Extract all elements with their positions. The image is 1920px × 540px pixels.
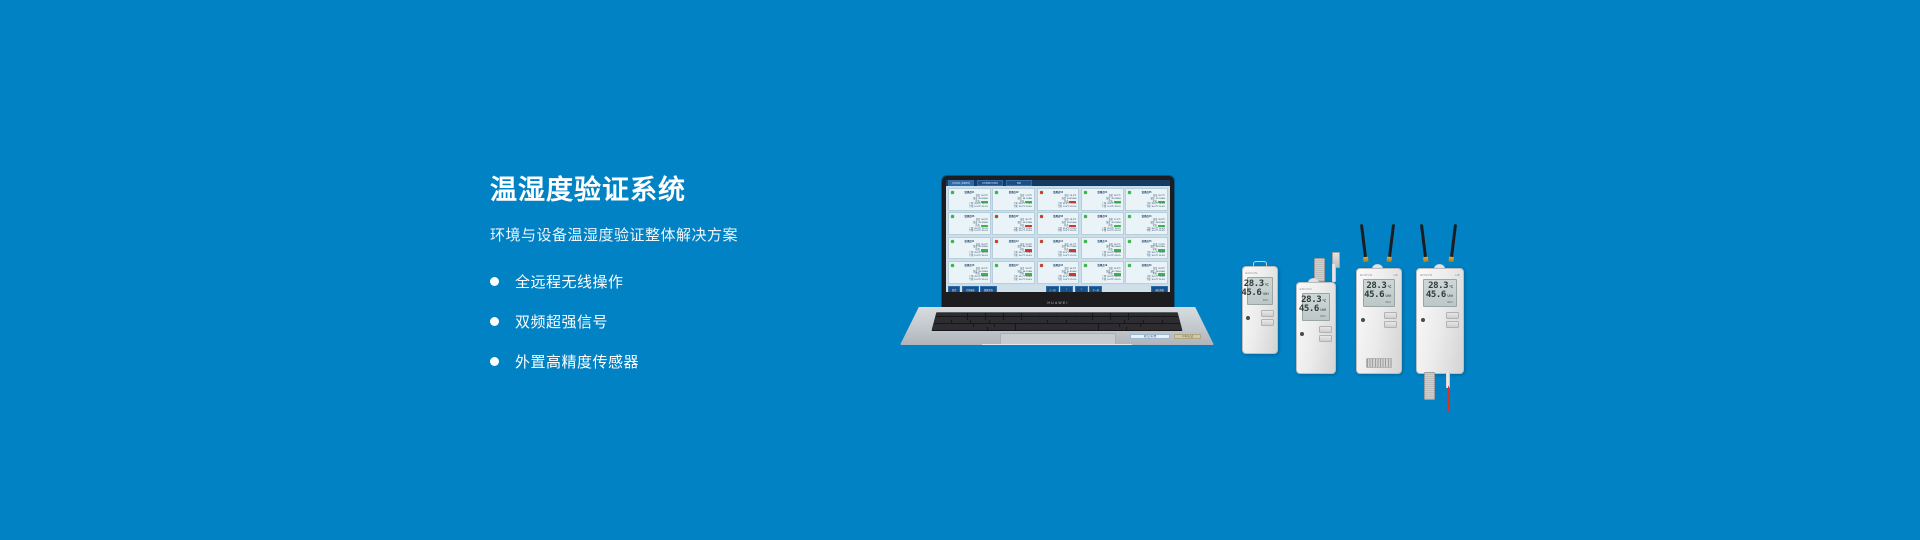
panel-lower-limit-label: 下限 [1102,230,1106,233]
device-probe-logger: ENOVN 28.3 ℃ 45.6 %RH REC [1296,238,1336,374]
panel-lower-limit-value: 10.0℃ 20.0% [1063,279,1077,282]
device-model-label: H8 [1455,273,1459,277]
keyboard-key[interactable] [1141,324,1161,327]
panel-title: 监测点20 [1128,263,1165,267]
panel-status-led-icon [951,215,954,218]
panel-row: 下限10.0℃ 20.0% [1084,279,1121,282]
panel-title: 监测点19 [1084,263,1121,267]
keyboard-key[interactable] [1057,324,1077,327]
panel-lower-limit-value: 10.0℃ 20.0% [974,206,988,209]
laptop-lid: 实时监控 | 数据查询 历史数据记录查询 帮助 监测点01温度28.3℃湿度45… [942,176,1174,310]
page-1-button[interactable]: 1 [1060,286,1073,293]
antenna-icon [1420,224,1428,258]
panel-title: 监测点12 [995,239,1032,243]
laptop-illustration: 实时监控 | 数据查询 历史数据记录查询 帮助 监测点01温度28.3℃湿度45… [892,176,1222,311]
monitor-panel[interactable]: 监测点07温度30.2℃湿度43.9%RH状态上限35.0℃ 70.0%下限10… [992,212,1035,235]
keyboard-key[interactable] [932,317,949,320]
keyboard-key[interactable] [1071,327,1098,330]
keyboard-key[interactable] [990,320,1009,323]
panel-title: 监测点14 [1084,239,1121,243]
ir-sensor-icon [1300,332,1304,336]
device-lcd-display: 28.3 ℃ 45.6 %RH REC [1302,293,1330,321]
monitor-panel[interactable]: 监测点20温度28.3℃湿度45.6%RH状态上限35.0℃ 70.0%下限10… [1125,261,1168,284]
panel-status-led-icon [1040,191,1043,194]
panel-lower-limit-label: 下限 [1013,230,1017,233]
device-brand-label: ENOVN [1360,273,1372,277]
panel-lower-limit-label: 下限 [1146,230,1150,233]
panel-row: 下限10.0℃ 20.0% [995,206,1032,209]
panel-row: 下限10.0℃ 20.0% [951,206,988,209]
panel-title: 监测点01 [951,190,988,194]
lcd-temperature-unit: ℃ [1322,300,1326,303]
monitor-panel[interactable]: 监测点14温度28.2℃湿度46.4%RH状态上限35.0℃ 70.0%下限10… [1081,237,1124,260]
keyboard-row [932,313,1181,316]
panel-lower-limit-label: 下限 [1146,255,1150,258]
panel-status-led-icon [995,264,998,267]
keyboard-key[interactable] [1022,317,1039,320]
panel-title: 监测点13 [1040,239,1077,243]
panel-title: 监测点07 [995,214,1032,218]
device-button-up[interactable] [1446,312,1459,319]
validation-sticker: 验证系统 [1130,334,1170,339]
panel-lower-limit-value: 10.0℃ 20.0% [1019,255,1033,258]
keyboard-key[interactable] [1039,317,1056,320]
keyboard-key[interactable] [952,320,971,323]
page-2-button[interactable]: 2 [1075,286,1088,293]
device-button-down[interactable] [1446,321,1459,328]
keyboard-key[interactable] [1146,313,1163,316]
panel-lower-limit-value: 10.0℃ 20.0% [1063,206,1077,209]
sensor-vent-icon [1366,358,1392,368]
lcd-temperature-unit: ℃ [1449,286,1453,289]
keyboard-key[interactable] [950,313,967,316]
panel-status-led-icon [1128,191,1131,194]
monitor-panel[interactable]: 监测点06温度28.0℃湿度45.3%RH状态上限35.0℃ 70.0%下限10… [948,212,991,235]
device-controls [1361,312,1398,328]
device-group: ENOVN 28.3 ℃ 45.6 %RH REC [1238,222,1538,402]
lcd-recording-indicator: REC [1263,299,1269,302]
panel-lower-limit-label: 下限 [1013,206,1017,209]
exit-system-button[interactable]: 退出系统 [1151,286,1168,293]
app-bottom-toolbar: 监控 打印报表 数据查询 上一页 1 2 下一页 退出系统 [946,286,1170,293]
panel-status-label: 状态 [975,201,979,204]
device-brand-label: ENOVN [1300,287,1312,291]
list-item: 双频超强信号 [490,311,870,332]
panel-lower-limit-label: 下限 [1102,206,1106,209]
device-wireless-logger: ENOVN H8 28.3 ℃ 45.6 %RH REC [1356,224,1402,374]
keyboard-key[interactable] [974,324,994,327]
keyboard-key[interactable] [1004,313,1021,316]
panel-lower-limit-value: 10.0℃ 20.0% [1151,206,1165,209]
keyboard-key[interactable] [1067,320,1086,323]
keyboard-key[interactable] [932,324,952,327]
device-body: ENOVN H8 28.3 ℃ 45.6 %RH REC [1356,268,1402,374]
panel-row: 下限10.0℃ 20.0% [1128,230,1165,233]
lcd-temperature-unit: ℃ [1265,284,1269,287]
device-brand-label: ENOVN [1420,273,1432,277]
panel-status-label: 状态 [1020,273,1024,276]
monitor-panel[interactable]: 监测点01温度28.3℃湿度45.6%RH状态上限35.0℃ 70.0%下限10… [948,188,991,211]
panel-lower-limit-value: 10.0℃ 20.0% [1107,255,1121,258]
keyboard-key[interactable] [1093,317,1110,320]
keyboard-key[interactable] [1057,313,1074,316]
monitor-panel[interactable]: 监测点18温度30.5℃湿度41.8%RH状态上限35.0℃ 70.0%下限10… [1037,261,1080,284]
panel-lower-limit-value: 10.0℃ 20.0% [1019,206,1033,209]
lcd-humidity-unit: %RH [1447,295,1453,298]
panel-row: 下限10.0℃ 20.0% [1040,206,1077,209]
device-controls [1300,326,1332,342]
device-controls [1421,312,1460,328]
panel-row: 下限10.0℃ 20.0% [995,230,1032,233]
panel-lower-limit-label: 下限 [1102,279,1106,282]
feature-label: 双频超强信号 [515,311,608,332]
panel-title: 监测点06 [951,214,988,218]
marketing-copy: 温湿度验证系统 环境与设备温湿度验证整体解决方案 全远程无线操作 双频超强信号 … [490,176,870,391]
monitor-panel[interactable]: 监测点08温度28.6℃湿度46.0%RH状态上限35.0℃ 70.0%下限10… [1037,212,1080,235]
bullet-dot-icon [490,317,499,326]
device-keypad[interactable] [1446,312,1459,328]
keyboard-key[interactable] [1086,320,1105,323]
device-button-down[interactable] [1261,319,1274,326]
panel-status-label: 状态 [1064,249,1068,252]
keyboard-key[interactable] [986,313,1003,316]
monitor-panel[interactable]: 监测点02温度27.9℃湿度46.1%RH状态上限35.0℃ 70.0%下限10… [992,188,1035,211]
panel-status-label: 状态 [975,225,979,228]
keyboard-key[interactable] [960,327,987,330]
panel-status-led-icon [995,240,998,243]
device-button-up[interactable] [1319,326,1332,333]
monitor-panel[interactable]: 监测点12温度29.8℃湿度43.1%RH状态上限35.0℃ 70.0%下限10… [992,237,1035,260]
panel-lower-limit-value: 10.0℃ 20.0% [1063,230,1077,233]
keyboard-key[interactable] [1009,320,1028,323]
panel-lower-limit-value: 10.0℃ 20.0% [1107,206,1121,209]
keyboard-key[interactable] [1164,317,1181,320]
panel-status-label: 状态 [975,273,979,276]
device-button-up[interactable] [1261,310,1274,317]
keyboard-key[interactable] [1039,313,1056,316]
laptop-trackpad[interactable] [1000,333,1115,345]
keyboard-row [932,324,1181,327]
panel-row: 下限10.0℃ 20.0% [1084,230,1121,233]
keyboard-row [932,320,1181,323]
panel-status-label: 状态 [1108,273,1112,276]
probe-cable-icon [1448,386,1449,412]
laptop-screen: 实时监控 | 数据查询 历史数据记录查询 帮助 监测点01温度28.3℃湿度45… [946,180,1170,292]
monitor-panel-grid: 监测点01温度28.3℃湿度45.6%RH状态上限35.0℃ 70.0%下限10… [946,186,1170,286]
keyboard-key[interactable] [1163,320,1182,323]
device-brand-row: ENOVN [1300,287,1333,291]
panel-status-label: 状态 [1153,249,1157,252]
device-brand-row: ENOVN H8 [1360,273,1398,277]
panel-lower-limit-value: 10.0℃ 20.0% [1019,230,1033,233]
device-button-down[interactable] [1384,321,1397,328]
keyboard-key[interactable] [1093,313,1110,316]
panel-lower-limit-value: 10.0℃ 20.0% [1107,230,1121,233]
keyboard-key[interactable] [1075,313,1092,316]
panel-lower-limit-label: 下限 [969,279,973,282]
probe-sensor-icon [1424,372,1435,400]
panel-lower-limit-label: 下限 [969,230,973,233]
lcd-humidity-row: 45.6 %RH [1299,305,1326,314]
device-model-label: H8 [1393,273,1397,277]
device-lcd-display: 28.3 ℃ 45.6 %RH REC [1423,279,1457,307]
lcd-humidity-unit: %RH [1385,295,1391,298]
keyboard-key[interactable] [1022,313,1039,316]
laptop-front-hinge [982,344,1133,347]
panel-status-label: 状态 [1108,201,1112,204]
panel-status-label: 状态 [1020,201,1024,204]
panel-lower-limit-label: 下限 [1057,206,1061,209]
device-controls [1246,310,1275,326]
keyboard-key[interactable] [986,317,1003,320]
panel-row: 下限10.0℃ 20.0% [1084,206,1121,209]
certification-sticker: CE认证 [1174,334,1201,339]
device-keypad[interactable] [1384,312,1397,328]
panel-status-led-icon [1128,264,1131,267]
keyboard-key[interactable] [1146,317,1163,320]
monitor-button[interactable]: 监控 [948,286,960,293]
print-report-button[interactable]: 打印报表 [962,286,979,293]
list-item: 外置高精度传感器 [490,351,870,372]
lcd-humidity-value: 45.6 [1426,291,1446,300]
keyboard-key[interactable] [1125,320,1144,323]
device-body: ENOVN 28.3 ℃ 45.6 %RH REC [1242,266,1278,354]
device-brand-label: ENOVN [1245,271,1257,275]
panel-lower-limit-label: 下限 [1146,206,1150,209]
page-title: 温湿度验证系统 [490,176,870,206]
keyboard-key[interactable] [1111,313,1128,316]
bullet-dot-icon [490,357,499,366]
keyboard-key[interactable] [988,327,1015,330]
hero-banner: 温湿度验证系统 环境与设备温湿度验证整体解决方案 全远程无线操作 双频超强信号 … [0,0,1920,540]
panel-status-led-icon [1040,240,1043,243]
panel-lower-limit-value: 10.0℃ 20.0% [1151,255,1165,258]
lcd-humidity-row: 45.6 %RH [1241,289,1268,298]
panel-row: 下限10.0℃ 20.0% [995,255,1032,258]
prev-page-button[interactable]: 上一页 [1046,286,1059,293]
panel-row: 下限10.0℃ 20.0% [1040,255,1077,258]
panel-lower-limit-value: 10.0℃ 20.0% [974,230,988,233]
keyboard-key[interactable] [1161,324,1181,327]
keyboard-key[interactable] [968,317,985,320]
panel-status-led-icon [951,264,954,267]
lcd-humidity-value: 45.6 [1364,291,1384,300]
monitor-panel[interactable]: 监测点04温度28.1℃湿度45.0%RH状态上限35.0℃ 70.0%下限10… [1081,188,1124,211]
panel-status-label: 状态 [1108,249,1112,252]
device-keypad[interactable] [1261,310,1274,326]
monitor-panel[interactable]: 监测点19温度28.8℃湿度46.7%RH状态上限35.0℃ 70.0%下限10… [1081,261,1124,284]
panel-status-led-icon [1040,215,1043,218]
keyboard-key[interactable] [1016,327,1043,330]
device-data-logger: ENOVN 28.3 ℃ 45.6 %RH REC [1242,266,1278,354]
next-page-button[interactable]: 下一页 [1089,286,1102,293]
panel-lower-limit-value: 10.0℃ 20.0% [1107,279,1121,282]
device-body: ENOVN 28.3 ℃ 45.6 %RH REC [1296,282,1336,374]
monitor-panel[interactable]: 监测点15温度27.8℃湿度45.9%RH状态上限35.0℃ 70.0%下限10… [1125,237,1168,260]
panel-lower-limit-label: 下限 [1057,279,1061,282]
panel-lower-limit-label: 下限 [1057,230,1061,233]
keyboard-key[interactable] [1120,324,1140,327]
ir-sensor-icon [1246,316,1250,320]
data-query-button[interactable]: 数据查询 [980,286,997,293]
panel-lower-limit-label: 下限 [1146,279,1150,282]
panel-status-led-icon [1084,191,1087,194]
list-item: 全远程无线操作 [490,271,870,292]
panel-lower-limit-value: 10.0℃ 20.0% [974,279,988,282]
keyboard-key[interactable] [968,313,985,316]
ir-sensor-icon [1421,318,1425,322]
panel-lower-limit-label: 下限 [969,255,973,258]
laptop-keyboard[interactable] [931,312,1182,331]
panel-status-label: 状态 [1064,201,1068,204]
keyboard-key[interactable] [1048,320,1067,323]
keyboard-key[interactable] [1129,313,1146,316]
panel-status-label: 状态 [1064,225,1068,228]
panel-status-led-icon [1084,215,1087,218]
panel-lower-limit-value: 10.0℃ 20.0% [1019,279,1033,282]
panel-row: 下限10.0℃ 20.0% [1128,206,1165,209]
device-brand-row: ENOVN H8 [1420,273,1460,277]
panel-title: 监测点16 [951,263,988,267]
lcd-temperature-unit: ℃ [1387,286,1391,289]
keyboard-key[interactable] [950,317,967,320]
monitor-panel[interactable]: 监测点11温度28.4℃湿度45.5%RH状态上限35.0℃ 70.0%下限10… [948,237,991,260]
device-lcd-display: 28.3 ℃ 45.6 %RH REC [1363,279,1396,307]
lcd-humidity-row: 45.6 %RH [1364,291,1391,300]
monitor-panel[interactable]: 监测点09温度27.5℃湿度44.2%RH状态上限35.0℃ 70.0%下限10… [1081,212,1124,235]
panel-title: 监测点10 [1128,214,1165,218]
lcd-humidity-unit: %RH [1320,309,1326,312]
keyboard-key[interactable] [932,313,949,316]
panel-lower-limit-value: 10.0℃ 20.0% [1151,279,1165,282]
keyboard-key[interactable] [1036,324,1056,327]
keyboard-row [932,317,1181,320]
lcd-humidity-row: 45.6 %RH [1426,291,1453,300]
panel-title: 监测点05 [1128,190,1165,194]
keyboard-key[interactable] [1164,313,1181,316]
page-subtitle: 环境与设备温湿度验证整体解决方案 [490,224,870,245]
panel-lower-limit-label: 下限 [1013,279,1017,282]
keyboard-key[interactable] [1078,324,1098,327]
panel-row: 下限10.0℃ 20.0% [1040,279,1077,282]
panel-lower-limit-label: 下限 [1057,255,1061,258]
monitor-panel[interactable]: 监测点10温度28.9℃湿度45.8%RH状态上限35.0℃ 70.0%下限10… [1125,212,1168,235]
keyboard-key[interactable] [1099,327,1126,330]
keyboard-key[interactable] [932,327,959,330]
panel-title: 监测点03 [1040,190,1077,194]
keyboard-key[interactable] [953,324,973,327]
keyboard-key[interactable] [1075,317,1092,320]
monitor-panel[interactable]: 监测点05温度28.7℃湿度47.2%RH状态上限35.0℃ 70.0%下限10… [1125,188,1168,211]
panel-title: 监测点04 [1084,190,1121,194]
ir-sensor-icon [1361,318,1365,322]
panel-status-label: 状态 [1020,249,1024,252]
feature-label: 外置高精度传感器 [515,351,639,372]
panel-status-label: 状态 [1064,273,1068,276]
panel-status-label: 状态 [1153,225,1157,228]
monitor-panel[interactable]: 监测点16温度28.5℃湿度45.2%RH状态上限35.0℃ 70.0%下限10… [948,261,991,284]
device-button-down[interactable] [1319,335,1332,342]
keyboard-key[interactable] [1057,317,1074,320]
panel-title: 监测点09 [1084,214,1121,218]
keyboard-row [932,327,1181,330]
panel-lower-limit-label: 下限 [1102,255,1106,258]
antenna-icon [1450,224,1458,258]
keyboard-key[interactable] [1154,327,1181,330]
panel-status-led-icon [1084,264,1087,267]
panel-status-label: 状态 [1020,225,1024,228]
keyboard-key[interactable] [1129,317,1146,320]
panel-row: 下限10.0℃ 20.0% [951,230,988,233]
keyboard-key[interactable] [1127,327,1154,330]
device-keypad[interactable] [1319,326,1332,342]
keyboard-key[interactable] [1099,324,1119,327]
panel-row: 下限10.0℃ 20.0% [951,255,988,258]
device-brand-row: ENOVN [1245,271,1274,275]
panel-row: 下限10.0℃ 20.0% [1084,255,1121,258]
lcd-humidity-value: 45.6 [1299,305,1319,314]
keyboard-key[interactable] [1144,320,1163,323]
panel-row: 下限10.0℃ 20.0% [1040,230,1077,233]
keyboard-key[interactable] [1043,327,1070,330]
keyboard-key[interactable] [1004,317,1021,320]
keyboard-key[interactable] [1016,324,1036,327]
panel-lower-limit-value: 10.0℃ 20.0% [1151,230,1165,233]
lcd-recording-indicator: REC [1320,315,1326,318]
device-button-up[interactable] [1384,312,1397,319]
panel-title: 监测点18 [1040,263,1077,267]
monitor-panel[interactable]: 监测点03温度29.4℃湿度44.8%RH状态上限35.0℃ 70.0%下限10… [1037,188,1080,211]
panel-title: 监测点15 [1128,239,1165,243]
feature-list: 全远程无线操作 双频超强信号 外置高精度传感器 [490,271,870,372]
monitor-panel[interactable]: 监测点13温度30.1℃湿度42.7%RH状态上限35.0℃ 70.0%下限10… [1037,237,1080,260]
panel-row: 下限10.0℃ 20.0% [1128,279,1165,282]
panel-title: 监测点02 [995,190,1032,194]
monitor-panel[interactable]: 监测点17温度29.0℃湿度44.5%RH状态上限35.0℃ 70.0%下限10… [992,261,1035,284]
panel-status-led-icon [1128,240,1131,243]
keyboard-key[interactable] [1111,317,1128,320]
panel-lower-limit-label: 下限 [1013,255,1017,258]
device-wireless-probe-logger: ENOVN H8 28.3 ℃ 45.6 %RH REC [1416,224,1464,374]
panel-row: 下限10.0℃ 20.0% [1128,255,1165,258]
panel-status-led-icon [951,191,954,194]
panel-status-label: 状态 [975,249,979,252]
keyboard-key[interactable] [971,320,990,323]
panel-lower-limit-value: 10.0℃ 20.0% [974,255,988,258]
lcd-recording-indicator: REC [1447,301,1453,304]
panel-title: 监测点11 [951,239,988,243]
device-body: ENOVN H8 28.3 ℃ 45.6 %RH REC [1416,268,1464,374]
panel-status-label: 状态 [1153,201,1157,204]
lcd-humidity-value: 45.6 [1241,289,1261,298]
panel-lower-limit-label: 下限 [969,206,973,209]
panel-title: 监测点08 [1040,214,1077,218]
bullet-dot-icon [490,277,499,286]
keyboard-key[interactable] [1105,320,1124,323]
lcd-recording-indicator: REC [1386,301,1392,304]
laptop-brand-label: HUAWEI [1047,301,1068,305]
panel-status-label: 状态 [1153,273,1157,276]
probe-stem-icon [1332,264,1336,282]
antenna-icon [1360,224,1368,258]
lcd-humidity-unit: %RH [1262,293,1268,296]
antenna-icon [1388,224,1396,258]
keyboard-key[interactable] [1028,320,1047,323]
panel-status-led-icon [1084,240,1087,243]
keyboard-key[interactable] [995,324,1015,327]
device-lcd-display: 28.3 ℃ 45.6 %RH REC [1247,277,1272,305]
keyboard-key[interactable] [932,320,951,323]
